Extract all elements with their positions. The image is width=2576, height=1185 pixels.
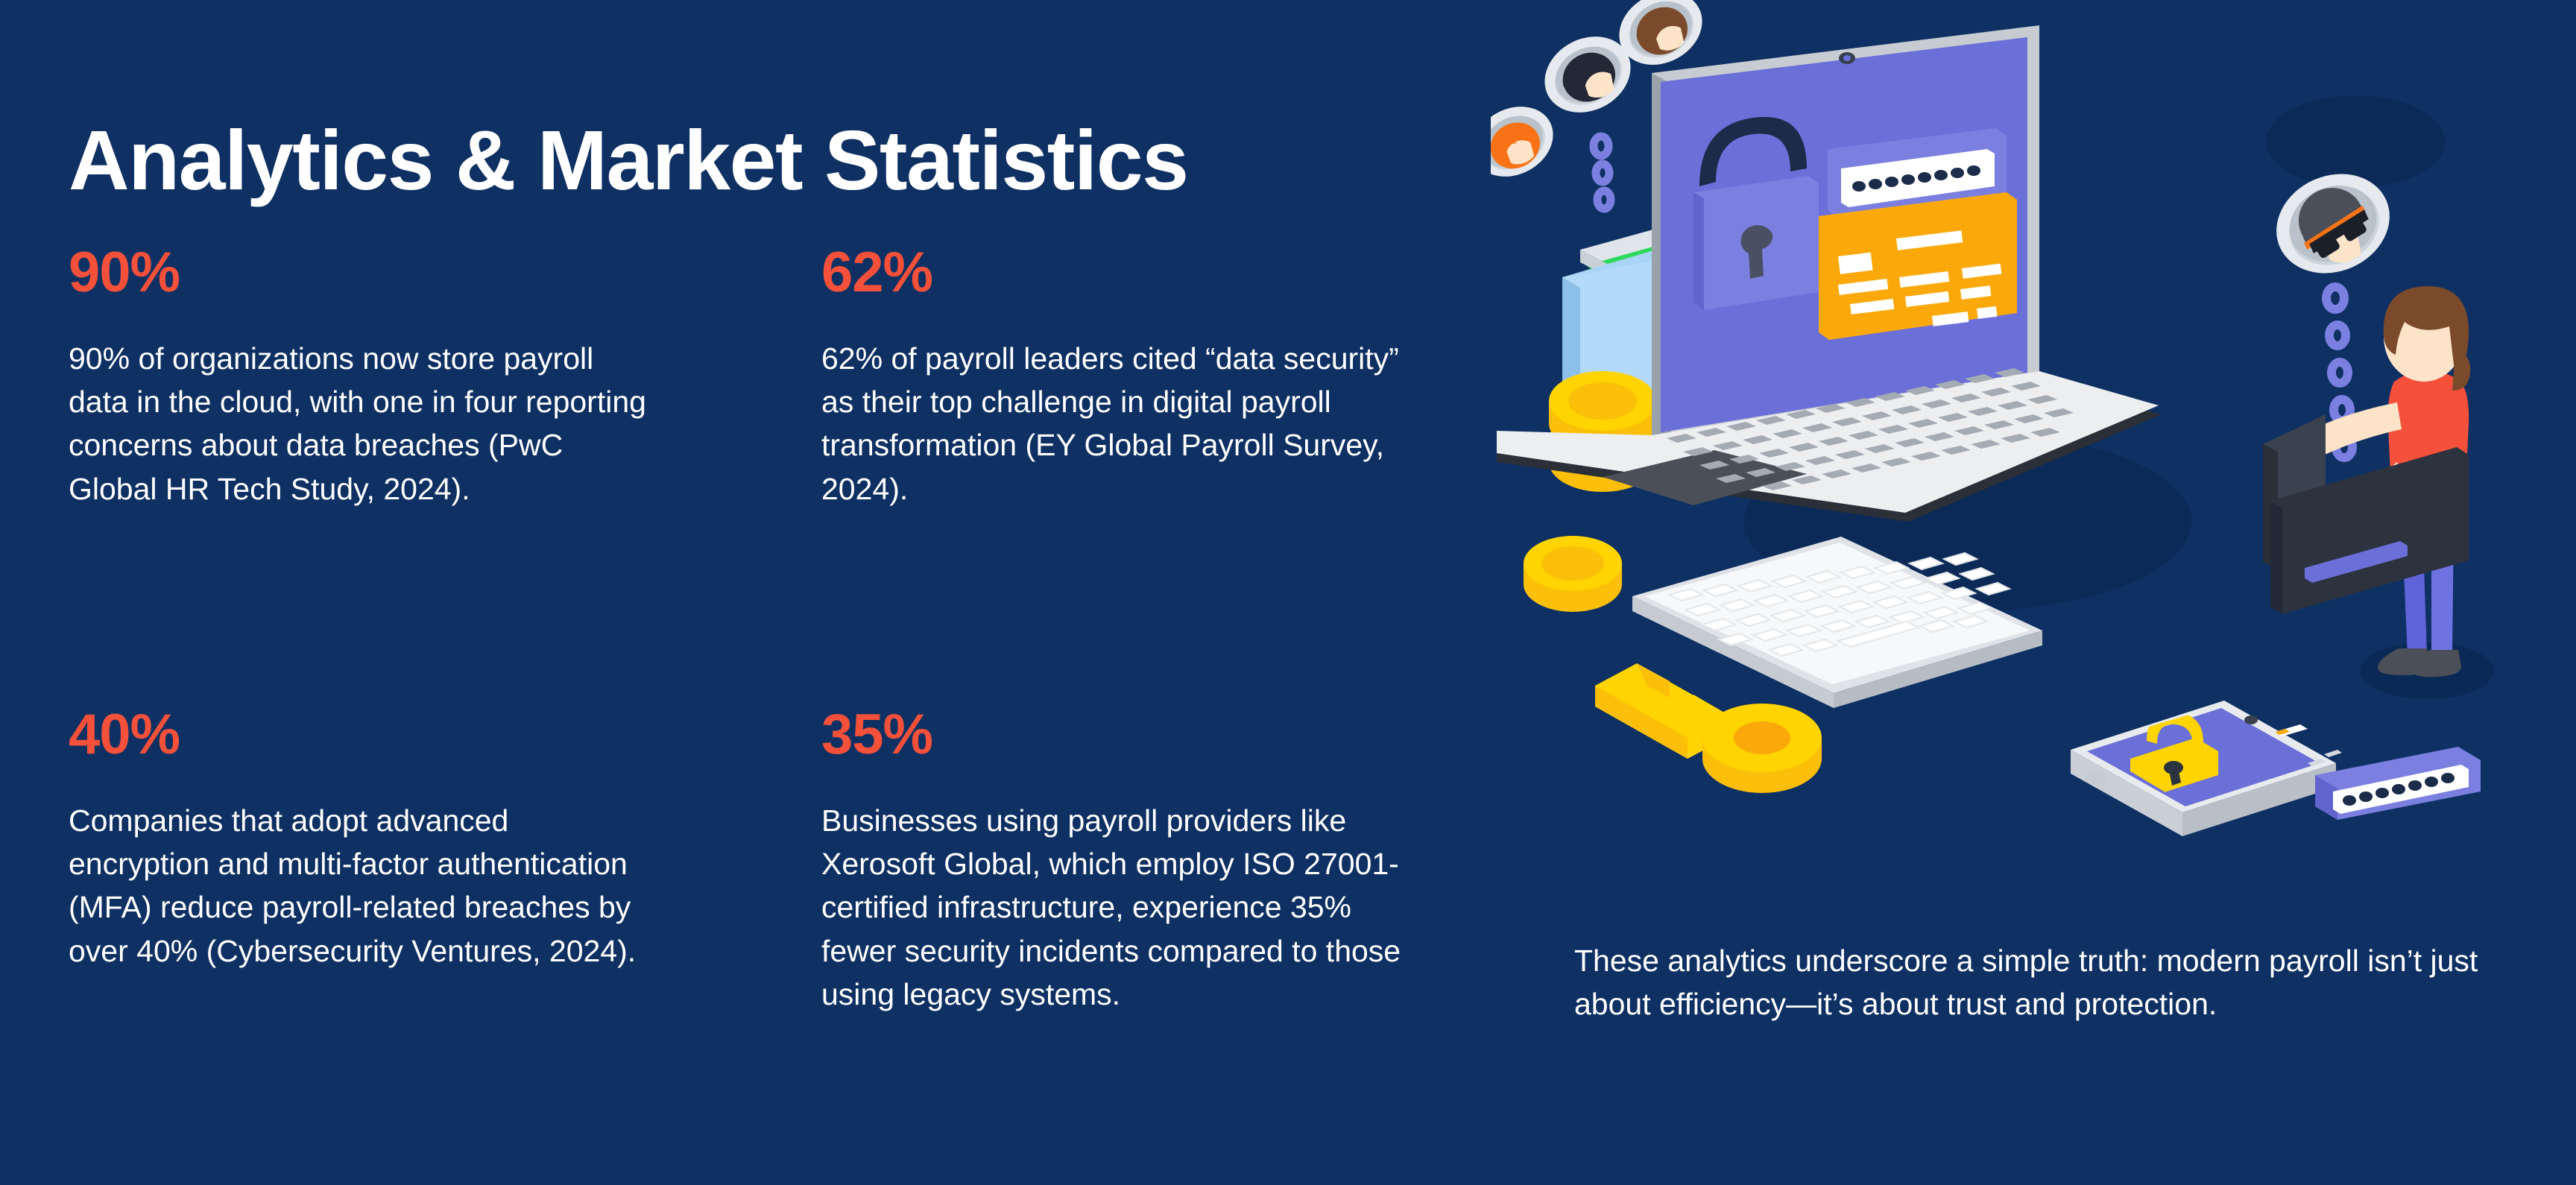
- credit-card: [1819, 192, 2017, 340]
- stat-description: Businesses using payroll providers like …: [821, 799, 1418, 1016]
- closing-note: These analytics underscore a simple trut…: [1574, 939, 2521, 1026]
- stat-block-90: 90% 90% of organizations now store payro…: [69, 244, 821, 707]
- stat-value: 90%: [69, 244, 821, 301]
- stat-value: 62%: [821, 244, 1455, 301]
- stat-description: 90% of organizations now store payroll d…: [69, 337, 650, 511]
- stat-description: Companies that adopt advanced encryption…: [69, 799, 650, 973]
- content-column: Analytics & Market Statistics 90% 90% of…: [0, 0, 1491, 1185]
- single-coin: [1524, 536, 1622, 612]
- floating-password-bar: [2315, 747, 2481, 820]
- stat-value: 40%: [69, 707, 821, 763]
- statistics-grid: 90% 90% of organizations now store payro…: [69, 244, 1455, 1016]
- avatar: [1491, 93, 1565, 190]
- stat-value: 35%: [821, 707, 1455, 763]
- connector-dots: [1594, 136, 1611, 209]
- stat-description: 62% of payroll leaders cited “data secur…: [821, 337, 1418, 511]
- stat-block-40: 40% Companies that adopt advanced encryp…: [69, 707, 821, 1016]
- stat-block-62: 62% 62% of payroll leaders cited “data s…: [821, 244, 1455, 707]
- page-title: Analytics & Market Statistics: [69, 116, 1187, 205]
- stat-block-35: 35% Businesses using payroll providers l…: [821, 707, 1455, 1016]
- smartphone-with-padlock: [2071, 701, 2342, 836]
- infographic-slide: Analytics & Market Statistics 90% 90% of…: [0, 0, 2576, 1185]
- woman-carrying-device: [2263, 286, 2494, 699]
